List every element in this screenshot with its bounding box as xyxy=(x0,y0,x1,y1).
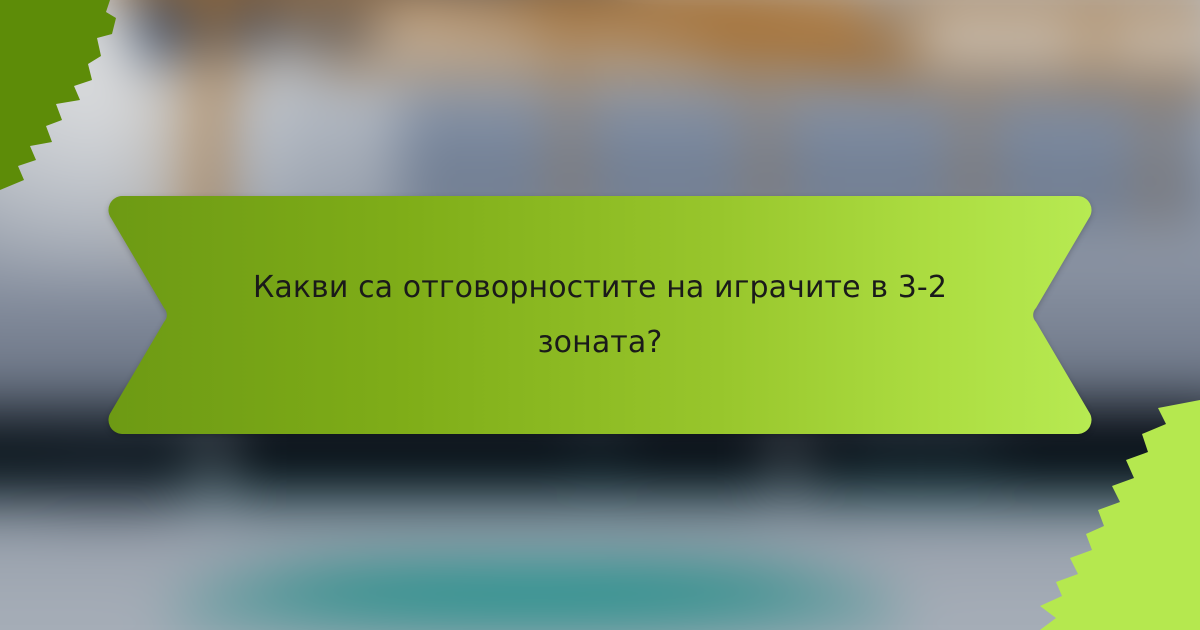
question-card: Какви са отговорностите на играчите в 3-… xyxy=(0,0,1200,630)
torn-paper-shape-bottom-right xyxy=(1000,400,1200,630)
banner-ribbon-shape xyxy=(108,196,1092,434)
torn-paper-shape-top-left xyxy=(0,0,200,210)
headline-banner: Какви са отговорностите на играчите в 3-… xyxy=(108,196,1092,434)
